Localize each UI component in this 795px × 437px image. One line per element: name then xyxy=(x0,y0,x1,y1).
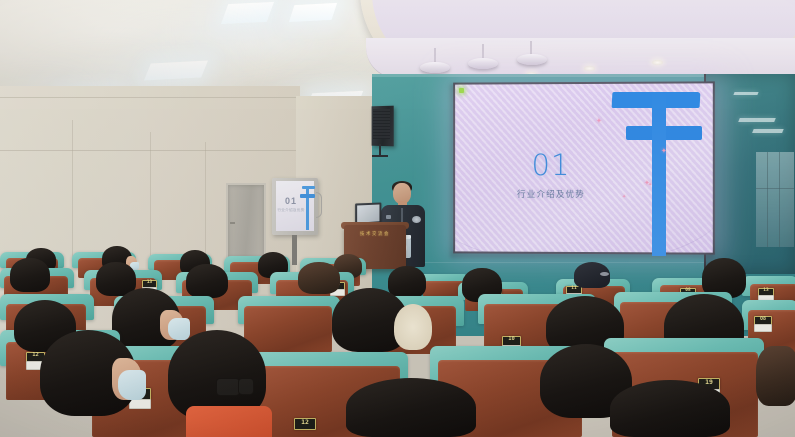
wall-seam xyxy=(0,97,300,98)
audience-head xyxy=(298,262,340,294)
sparkle-icon: ✦ xyxy=(661,148,667,155)
audience-head xyxy=(388,266,426,298)
window-reflection xyxy=(738,118,776,122)
seat-number-plate: 12 xyxy=(294,418,316,430)
slide-number: 01 xyxy=(512,148,590,182)
presenter-jacket-logo xyxy=(412,216,421,223)
spotlight xyxy=(517,54,547,65)
screen-power-led-icon xyxy=(459,88,464,93)
presenter-jacket-badge xyxy=(386,215,391,219)
audience-shirt xyxy=(186,406,272,437)
speaker-grille-icon xyxy=(373,109,390,139)
fur-collar xyxy=(394,304,432,350)
decor-stroke-stem xyxy=(652,92,666,256)
seat-info-plate xyxy=(754,324,772,332)
side-door[interactable] xyxy=(226,183,266,265)
slide-subtitle: 行业介绍及优势 xyxy=(505,188,597,200)
sparkle-icon: ✦ xyxy=(622,194,626,201)
speaker-bracket xyxy=(372,155,388,157)
wall-seam xyxy=(205,142,206,262)
face-mask xyxy=(118,370,146,400)
monitor-slide-number: 01 xyxy=(278,196,304,206)
sparkle-icon: ✦ xyxy=(648,182,652,189)
monitor-side-bracket xyxy=(316,192,322,218)
audience-head xyxy=(10,258,50,292)
spotlight xyxy=(468,58,498,69)
window-reflection xyxy=(752,129,783,133)
sparkle-icon: ✦ xyxy=(596,118,602,125)
face-mask xyxy=(168,318,190,340)
eyeglasses xyxy=(238,378,254,395)
monitor-slide-subtitle: 行业介绍及优势 xyxy=(276,208,306,213)
monitor-stand xyxy=(292,235,297,265)
soffit-downlight xyxy=(652,60,663,65)
seat-back xyxy=(244,306,332,352)
seat-info-plate xyxy=(129,399,151,409)
lecture-hall-photo: 01 行业介绍及优势 ✦ ✦ ✦ ✦ ✦ 01 行业介绍及优势 技术交流会 0 xyxy=(0,0,795,437)
eyeglasses xyxy=(216,378,240,396)
laptop-screen xyxy=(357,205,379,223)
audience-head xyxy=(346,378,476,437)
stage-soffit-lip xyxy=(366,38,795,79)
window-reflection xyxy=(733,92,758,95)
cap-logo-icon xyxy=(600,272,609,276)
monitor-slide-graphic xyxy=(302,186,315,189)
soffit-downlight xyxy=(584,66,595,71)
lectern-nameplate: 技术交流会 xyxy=(348,231,402,237)
door-handle-icon[interactable] xyxy=(230,222,235,224)
slide-decor-character xyxy=(604,88,708,256)
audience-head xyxy=(756,346,795,406)
window-grid-reflection xyxy=(756,152,794,247)
audience-head xyxy=(610,380,730,437)
wall-seam xyxy=(150,132,151,262)
wall-seam xyxy=(72,120,73,260)
audience-head xyxy=(186,264,228,298)
spotlight xyxy=(420,62,450,73)
